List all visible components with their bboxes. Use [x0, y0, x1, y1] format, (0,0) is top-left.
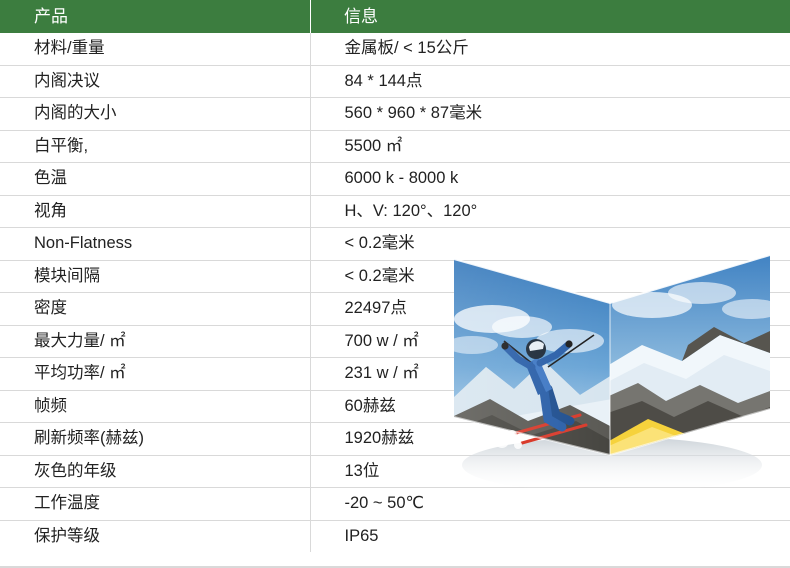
table-row: 内阁决议 84 * 144点: [0, 65, 790, 98]
row-value: 13位: [310, 455, 790, 488]
row-label: 帧频: [0, 390, 310, 423]
table-row: 模块间隔 < 0.2毫米: [0, 260, 790, 293]
table-row: 视角 H、V: 120°、120°: [0, 195, 790, 228]
table-row: 帧频 60赫兹: [0, 390, 790, 423]
row-label: 内阁的大小: [0, 98, 310, 131]
row-value: 1920赫兹: [310, 423, 790, 456]
table-row: 色温 6000 k - 8000 k: [0, 163, 790, 196]
row-value: 60赫兹: [310, 390, 790, 423]
row-value: -20 ~ 50℃: [310, 488, 790, 521]
row-label: 刷新频率(赫兹): [0, 423, 310, 456]
row-value: < 0.2毫米: [310, 228, 790, 261]
product-spec-table: 产品 信息 材料/重量 金属板/ < 15公斤 内阁决议 84 * 144点 内…: [0, 0, 790, 552]
table-header-row: 产品 信息: [0, 0, 790, 33]
row-label: 白平衡,: [0, 130, 310, 163]
table-row: 内阁的大小 560 * 960 * 87毫米: [0, 98, 790, 131]
column-header-information: 信息: [310, 0, 790, 33]
table-row: 最大力量/ ㎡ 700 w / ㎡: [0, 325, 790, 358]
table-body: 材料/重量 金属板/ < 15公斤 内阁决议 84 * 144点 内阁的大小 5…: [0, 33, 790, 552]
row-value: 6000 k - 8000 k: [310, 163, 790, 196]
row-label: 保护等级: [0, 520, 310, 552]
row-label: 平均功率/ ㎡: [0, 358, 310, 391]
table-row: 工作温度 -20 ~ 50℃: [0, 488, 790, 521]
row-label: 视角: [0, 195, 310, 228]
row-label: 内阁决议: [0, 65, 310, 98]
row-value: 560 * 960 * 87毫米: [310, 98, 790, 131]
table-row: 平均功率/ ㎡ 231 w / ㎡: [0, 358, 790, 391]
row-value: 700 w / ㎡: [310, 325, 790, 358]
row-value: 5500 ㎡: [310, 130, 790, 163]
row-value: < 0.2毫米: [310, 260, 790, 293]
table-row: Non-Flatness < 0.2毫米: [0, 228, 790, 261]
row-label: 材料/重量: [0, 33, 310, 65]
row-value: IP65: [310, 520, 790, 552]
row-value: 231 w / ㎡: [310, 358, 790, 391]
row-label: Non-Flatness: [0, 228, 310, 261]
row-label: 色温: [0, 163, 310, 196]
table-header: 产品 信息: [0, 0, 790, 33]
row-value: 84 * 144点: [310, 65, 790, 98]
table-row: 材料/重量 金属板/ < 15公斤: [0, 33, 790, 65]
row-value: 22497点: [310, 293, 790, 326]
table-row: 刷新频率(赫兹) 1920赫兹: [0, 423, 790, 456]
column-header-product: 产品: [0, 0, 310, 33]
row-label: 最大力量/ ㎡: [0, 325, 310, 358]
row-label: 模块间隔: [0, 260, 310, 293]
row-label: 工作温度: [0, 488, 310, 521]
table-row: 密度 22497点: [0, 293, 790, 326]
row-value: 金属板/ < 15公斤: [310, 33, 790, 65]
table-row: 灰色的年级 13位: [0, 455, 790, 488]
row-label: 密度: [0, 293, 310, 326]
table-row: 白平衡, 5500 ㎡: [0, 130, 790, 163]
row-value: H、V: 120°、120°: [310, 195, 790, 228]
row-label: 灰色的年级: [0, 455, 310, 488]
table-row: 保护等级 IP65: [0, 520, 790, 552]
